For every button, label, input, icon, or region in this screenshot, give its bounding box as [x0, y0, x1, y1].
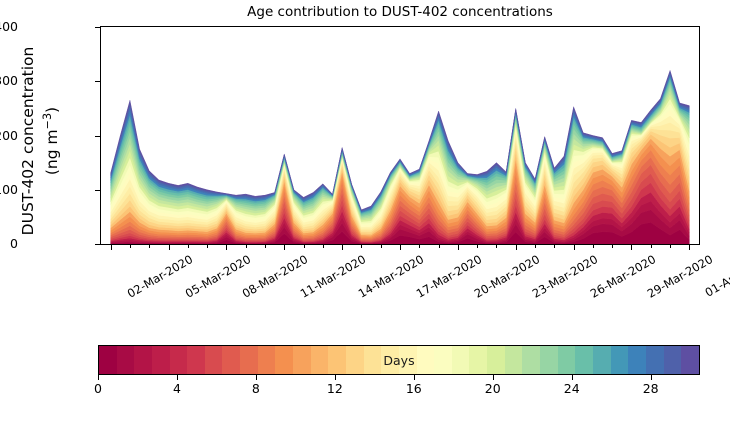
x-tick-label: 20-Mar-2020: [472, 252, 542, 301]
x-tick-minor: [304, 245, 305, 248]
colorbar-tick-mark: [335, 375, 336, 380]
colorbar-tick-label: 8: [252, 381, 260, 396]
colorbar-band: [240, 346, 258, 374]
x-tick-mark: [169, 245, 170, 250]
x-tick-minor: [361, 245, 362, 248]
x-tick-mark: [226, 245, 227, 250]
colorbar-band: [346, 346, 364, 374]
x-tick-minor: [612, 245, 613, 248]
x-tick-minor: [535, 245, 536, 248]
x-tick-label: 02-Mar-2020: [124, 252, 194, 301]
x-tick-mark: [689, 245, 690, 250]
colorbar-tick-mark: [414, 375, 415, 380]
y-axis-units-suffix: ): [43, 107, 61, 113]
x-tick-mark: [574, 245, 575, 250]
colorbar-band: [381, 346, 399, 374]
colorbar-band: [469, 346, 487, 374]
colorbar-band: [311, 346, 329, 374]
x-tick-mark: [400, 245, 401, 250]
colorbar-band: [117, 346, 135, 374]
colorbar-band: [558, 346, 576, 374]
y-axis-units-exponent: −3: [41, 113, 54, 129]
colorbar-tick-mark: [256, 375, 257, 380]
x-tick-mark: [631, 245, 632, 250]
x-tick-minor: [323, 245, 324, 248]
y-tick-mark: [95, 244, 100, 245]
colorbar-band: [505, 346, 523, 374]
colorbar-band: [434, 346, 452, 374]
stacked-area-plot: [101, 27, 699, 244]
colorbar-tick-mark: [493, 375, 494, 380]
y-tick-mark: [95, 190, 100, 191]
x-tick-minor: [477, 245, 478, 248]
colorbar-band: [540, 346, 558, 374]
y-axis-label: DUST-402 concentration (ng m−3): [19, 16, 41, 266]
colorbar-tick-mark: [572, 375, 573, 380]
x-tick-minor: [651, 245, 652, 248]
colorbar-band: [417, 346, 435, 374]
x-tick-minor: [207, 245, 208, 248]
colorbar-tick-mark: [177, 375, 178, 380]
x-tick-mark: [111, 245, 112, 250]
colorbar-tick-label: 12: [327, 381, 343, 396]
colorbar-band: [611, 346, 629, 374]
x-tick-mark: [284, 245, 285, 250]
colorbar-tick-label: 20: [485, 381, 501, 396]
colorbar-band: [205, 346, 223, 374]
x-tick-mark: [342, 245, 343, 250]
y-tick-label: 200: [0, 128, 18, 143]
x-tick-minor: [439, 245, 440, 248]
colorbar-band: [628, 346, 646, 374]
colorbar-band: [593, 346, 611, 374]
colorbar[interactable]: [98, 345, 700, 375]
y-tick-mark: [95, 27, 100, 28]
chart-title: Age contribution to DUST-402 concentrati…: [100, 4, 700, 20]
colorbar-band: [152, 346, 170, 374]
figure-canvas: Age contribution to DUST-402 concentrati…: [0, 0, 730, 425]
colorbar-tick-mark: [651, 375, 652, 380]
y-tick-mark: [95, 81, 100, 82]
colorbar-tick-label: 24: [564, 381, 580, 396]
x-tick-minor: [246, 245, 247, 248]
colorbar-band: [364, 346, 382, 374]
y-axis-units-prefix: (ng m: [43, 129, 61, 175]
colorbar-band: [222, 346, 240, 374]
x-tick-minor: [554, 245, 555, 248]
colorbar-band: [275, 346, 293, 374]
colorbar-tick-label: 16: [406, 381, 422, 396]
colorbar-band: [258, 346, 276, 374]
x-tick-minor: [593, 245, 594, 248]
y-tick-label: 100: [0, 182, 18, 197]
colorbar-tick-label: 0: [94, 381, 102, 396]
x-tick-label: 23-Mar-2020: [530, 252, 600, 301]
colorbar-band: [487, 346, 505, 374]
colorbar-band: [293, 346, 311, 374]
x-tick-minor: [265, 245, 266, 248]
area-layer-group: [111, 70, 690, 244]
y-tick-label: 400: [0, 19, 18, 34]
y-axis-label-line2: (ng m−3): [38, 16, 62, 266]
x-tick-minor: [149, 245, 150, 248]
y-tick-label: 0: [10, 236, 18, 251]
colorbar-tick-mark: [98, 375, 99, 380]
y-tick-mark: [95, 136, 100, 137]
colorbar-tick-label: 4: [173, 381, 181, 396]
colorbar-band: [522, 346, 540, 374]
x-tick-minor: [381, 245, 382, 248]
x-tick-minor: [670, 245, 671, 248]
colorbar-band: [328, 346, 346, 374]
colorbar-band: [681, 346, 699, 374]
x-tick-minor: [419, 245, 420, 248]
x-tick-mark: [458, 245, 459, 250]
colorbar-band: [399, 346, 417, 374]
y-tick-label: 300: [0, 73, 18, 88]
colorbar-band: [134, 346, 152, 374]
x-tick-mark: [516, 245, 517, 250]
colorbar-band: [664, 346, 682, 374]
colorbar-band: [187, 346, 205, 374]
colorbar-band: [575, 346, 593, 374]
colorbar-band: [646, 346, 664, 374]
colorbar-tick-label: 28: [643, 381, 659, 396]
x-tick-minor: [496, 245, 497, 248]
plot-area: [100, 26, 700, 245]
colorbar-band: [170, 346, 188, 374]
x-tick-minor: [188, 245, 189, 248]
y-axis-label-line1: DUST-402 concentration: [19, 16, 38, 266]
colorbar-band: [452, 346, 470, 374]
colorbar-band: [99, 346, 117, 374]
x-tick-minor: [130, 245, 131, 248]
